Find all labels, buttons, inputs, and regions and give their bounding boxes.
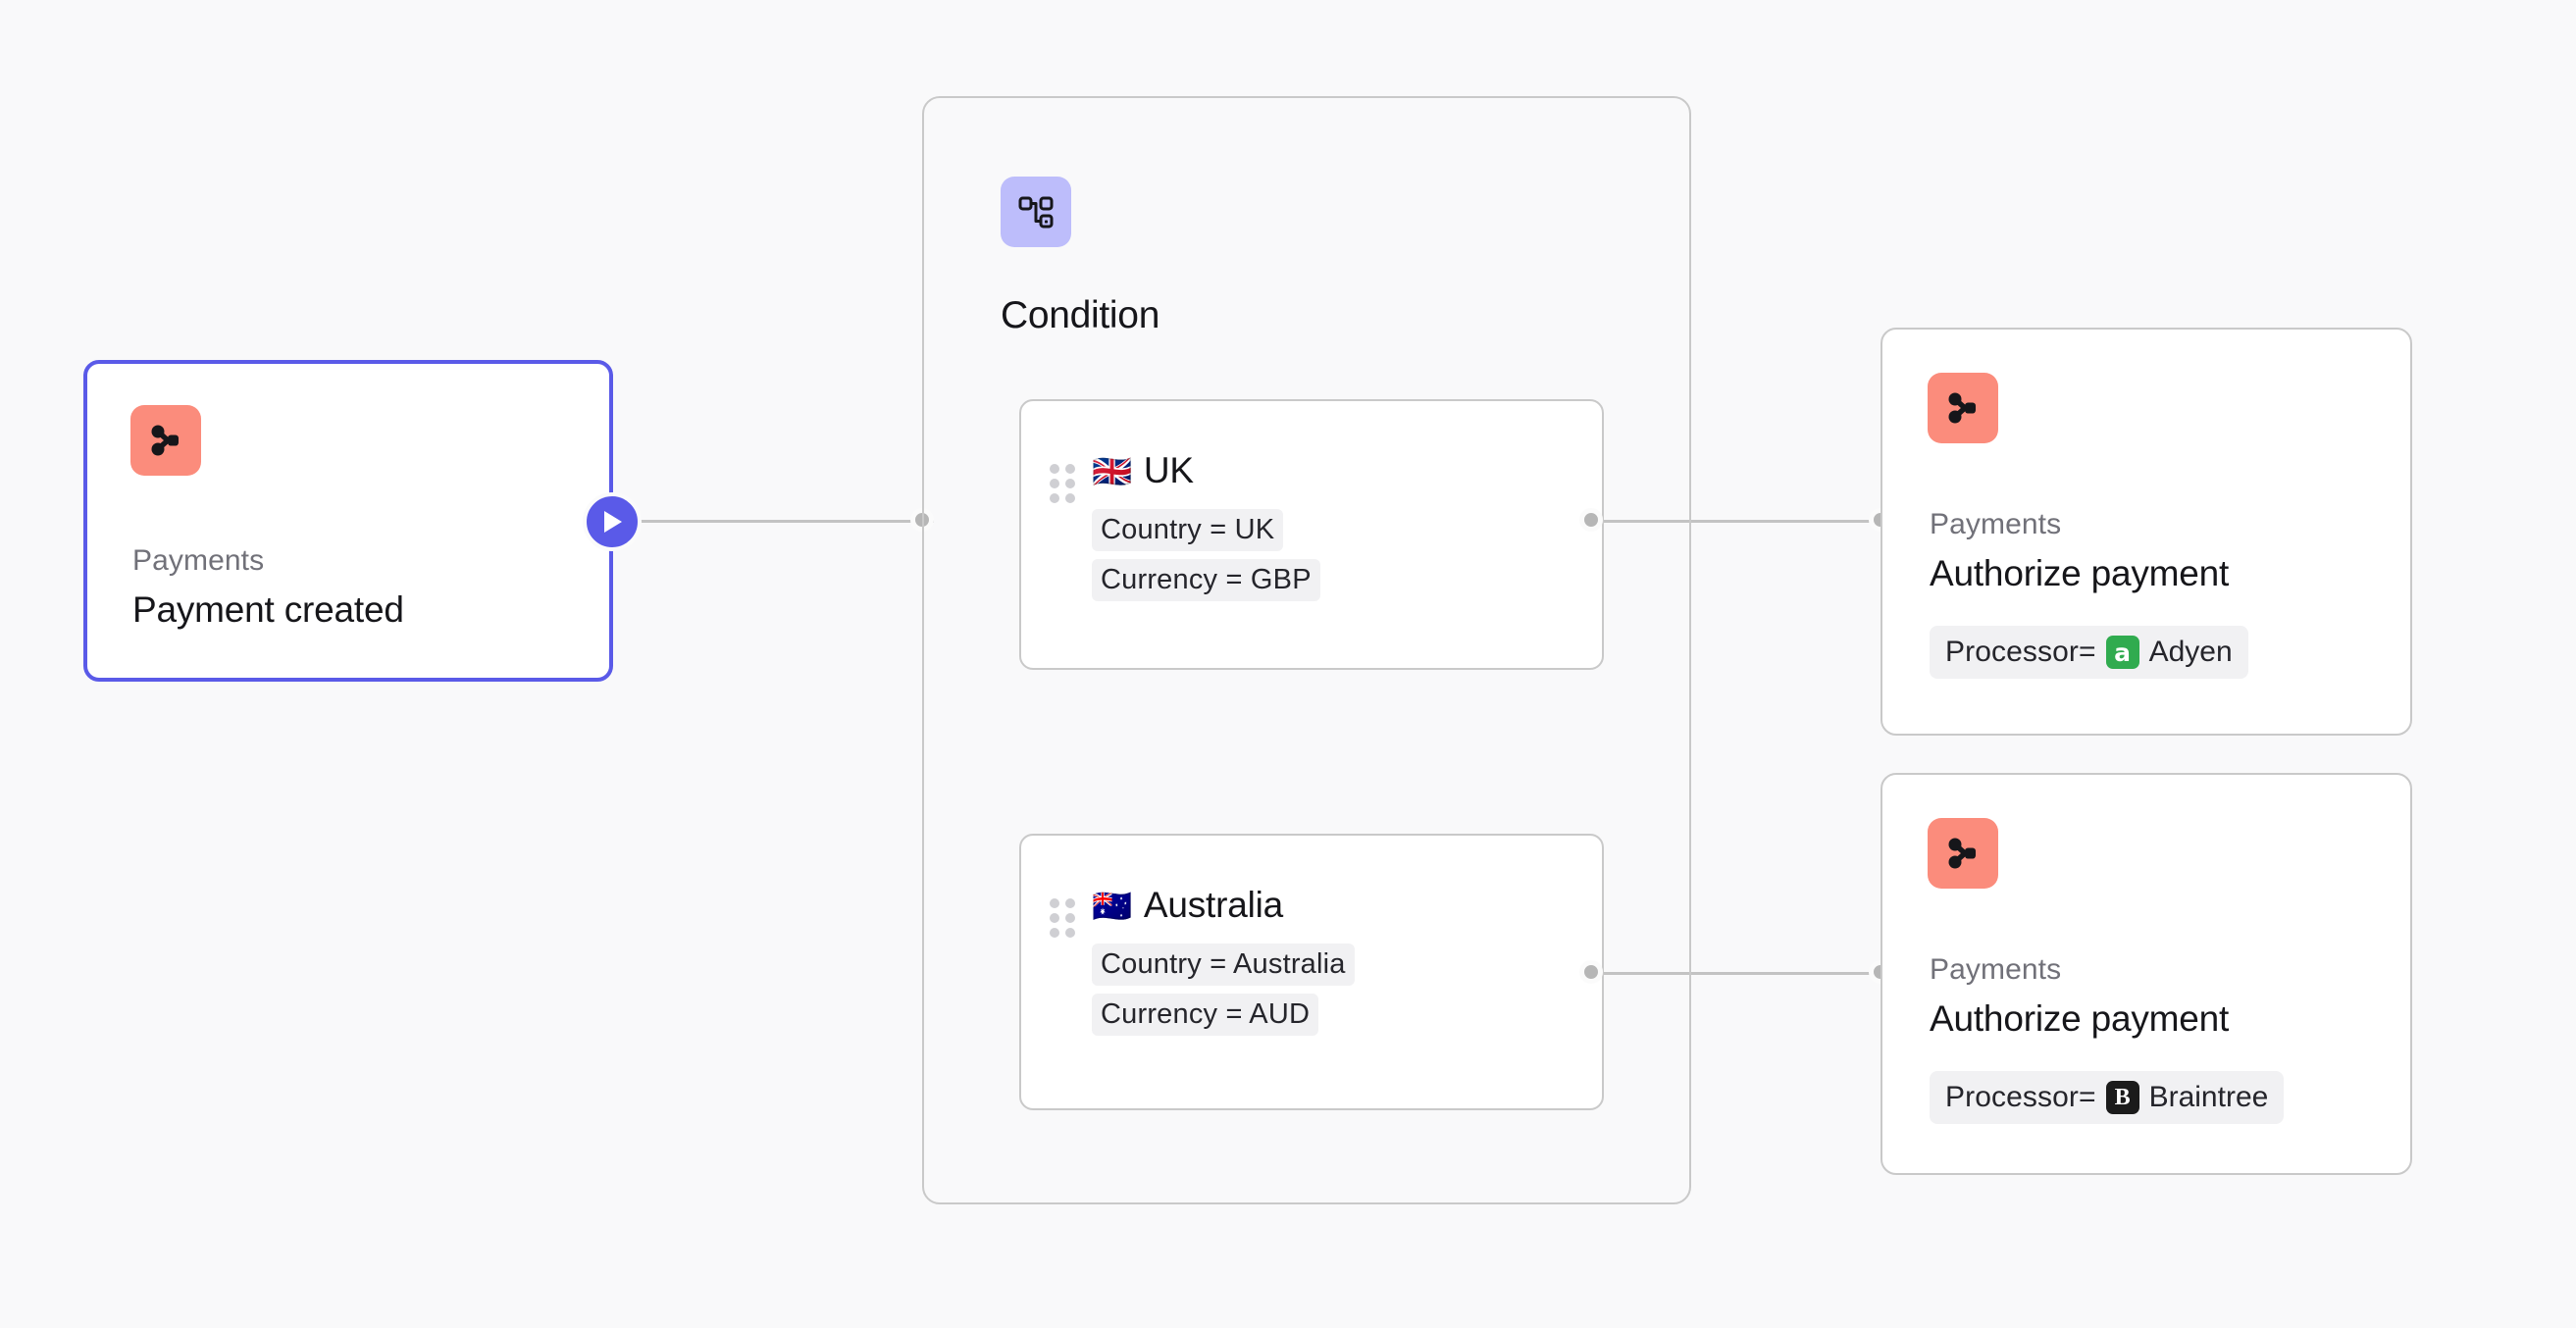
condition-chip[interactable]: Country = Australia (1092, 944, 1355, 986)
branch-header-uk: 🇬🇧 UK (1092, 450, 1194, 491)
branch-card-uk[interactable]: 🇬🇧 UK Country = UK Currency = GBP (1019, 399, 1604, 670)
processor-label: Processor= (1945, 636, 2096, 669)
processor-chip-adyen[interactable]: Processor= a Adyen (1930, 626, 2248, 679)
node-authorize-payment-braintree[interactable]: Payments Authorize payment Processor= B … (1880, 773, 2412, 1175)
run-trigger-button[interactable] (583, 492, 642, 551)
braintree-logo-glyph: B (2115, 1086, 2131, 1109)
branch-conditions-uk: Country = UK Currency = GBP (1092, 509, 1320, 601)
payments-branch-icon (1928, 818, 1998, 889)
condition-chip[interactable]: Country = UK (1092, 509, 1283, 551)
adyen-logo: a (2106, 636, 2139, 669)
node-payment-created[interactable]: Payments Payment created (83, 360, 613, 682)
flag-icon-uk: 🇬🇧 (1092, 455, 1132, 487)
condition-chip[interactable]: Currency = GBP (1092, 559, 1320, 601)
handle-branch-uk-output[interactable] (1579, 508, 1603, 532)
branch-header-australia: 🇦🇺 Australia (1092, 885, 1283, 926)
node-condition-group[interactable]: Condition 🇬🇧 UK Country = UK Currency = … (922, 96, 1691, 1204)
condition-branch-icon (1001, 177, 1071, 247)
processor-name: Braintree (2149, 1081, 2269, 1114)
node-title-label: Authorize payment (1930, 553, 2229, 594)
payments-branch-icon (130, 405, 201, 476)
branch-card-australia[interactable]: 🇦🇺 Australia Country = Australia Currenc… (1019, 834, 1604, 1110)
branch-name-label: Australia (1144, 885, 1283, 926)
play-icon (599, 508, 625, 536)
braintree-logo: B (2106, 1081, 2139, 1114)
adyen-logo-glyph: a (2114, 640, 2131, 665)
processor-chip-braintree[interactable]: Processor= B Braintree (1930, 1071, 2284, 1124)
drag-handle-icon[interactable] (1050, 898, 1075, 938)
node-authorize-payment-adyen[interactable]: Payments Authorize payment Processor= a … (1880, 328, 2412, 736)
node-category-label: Payments (132, 544, 264, 578)
node-title-label: Authorize payment (1930, 998, 2229, 1040)
branch-conditions-australia: Country = Australia Currency = AUD (1092, 944, 1355, 1036)
flag-icon-australia: 🇦🇺 (1092, 890, 1132, 922)
payments-branch-icon (1928, 373, 1998, 443)
condition-title-label: Condition (1001, 294, 1159, 337)
condition-chip[interactable]: Currency = AUD (1092, 994, 1318, 1036)
node-title-label: Payment created (132, 589, 404, 631)
processor-name: Adyen (2149, 636, 2233, 669)
workflow-canvas[interactable]: Payments Payment created Condition (0, 0, 2576, 1328)
drag-handle-icon[interactable] (1050, 464, 1075, 503)
handle-branch-australia-output[interactable] (1579, 960, 1603, 984)
node-category-label: Payments (1930, 508, 2061, 541)
edge-trigger-to-condition (634, 520, 934, 523)
processor-label: Processor= (1945, 1081, 2096, 1114)
branch-name-label: UK (1144, 450, 1194, 491)
node-category-label: Payments (1930, 953, 2061, 987)
